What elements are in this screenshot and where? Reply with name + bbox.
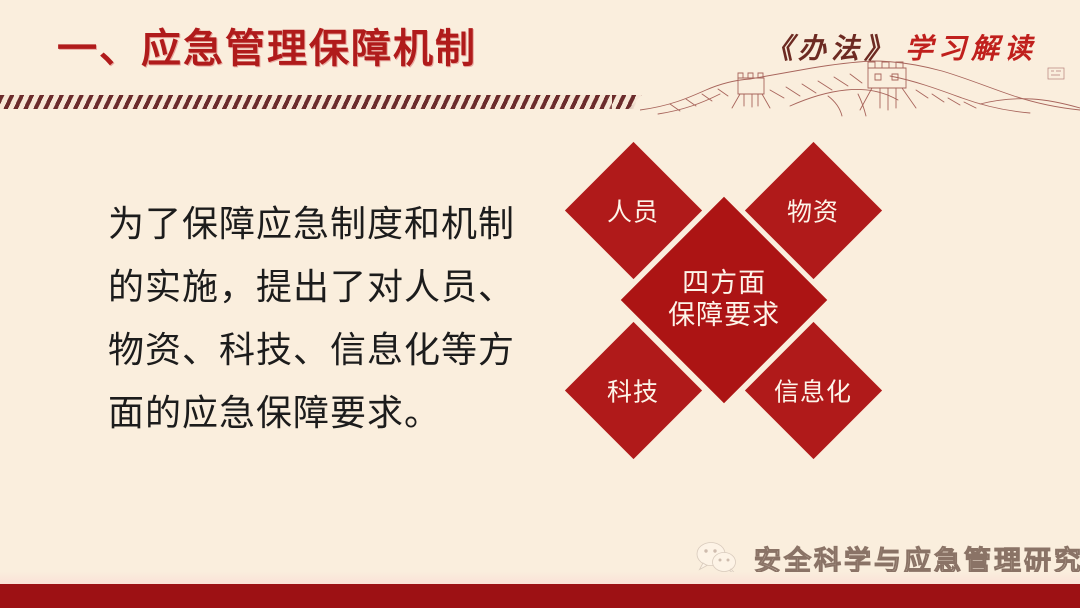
diagram-node-label: 信息化: [774, 373, 852, 409]
diagram-center-line2: 保障要求: [668, 300, 780, 330]
diagram-center-label: 四方面 保障要求: [668, 268, 780, 332]
page-title: 一、应急管理保障机制: [57, 27, 477, 71]
bottom-accent-bar: [0, 584, 1080, 608]
slide-canvas: 一、应急管理保障机制: [0, 0, 1080, 608]
body-paragraph: 为了保障应急制度和机制的实施，提出了对人员、物资、科技、信息化等方面的应急保障要…: [108, 192, 548, 444]
slide-header: 一、应急管理保障机制: [0, 0, 1080, 118]
diagram-center-line1: 四方面: [682, 268, 766, 298]
header-script-title: 《办法》学习解读: [765, 27, 1037, 67]
wechat-icon: [694, 541, 740, 575]
diamond-diagram: 人员 物资 四方面 保障要求 科技 信息化: [565, 135, 945, 485]
bottom-glow: [0, 572, 1080, 584]
diagram-node-label: 人员: [607, 193, 659, 229]
striped-divider: [0, 95, 636, 109]
header-script-bracket: 《办法》: [765, 34, 897, 65]
striped-divider-tail: [612, 95, 642, 109]
diagram-node-label: 科技: [607, 373, 659, 409]
diagram-node-label: 物资: [787, 193, 839, 229]
header-script-accent: 学习解读: [905, 34, 1037, 65]
